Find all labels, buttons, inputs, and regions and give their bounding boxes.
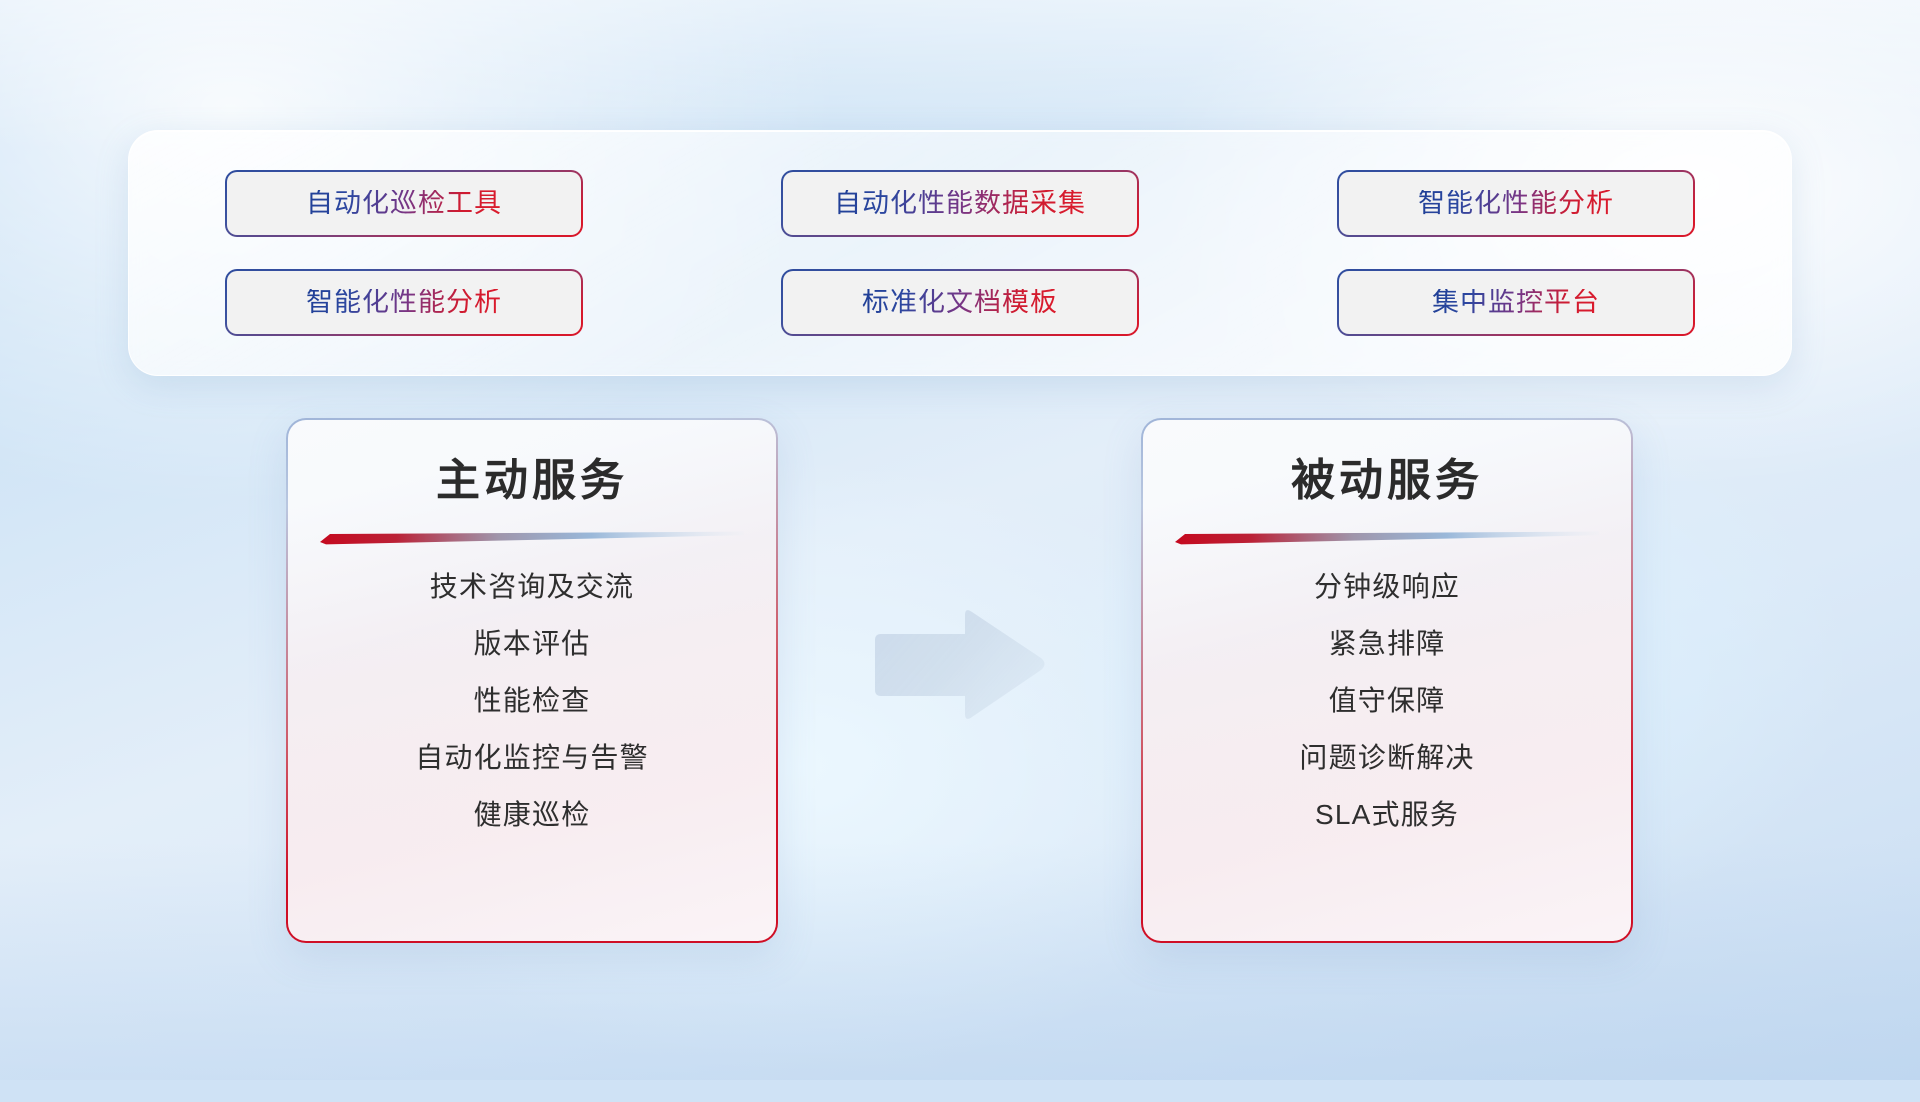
capability-tag-label: 标准化文档模板	[862, 289, 1058, 316]
tag-row: 智能化性能分析 标准化文档模板 集中监控平台	[225, 269, 1695, 336]
service-item-list: 分钟级响应 紧急排障 值守保障 问题诊断解决 SLA式服务	[1177, 573, 1597, 829]
capability-tag[interactable]: 自动化性能数据采集	[781, 170, 1139, 237]
service-list-item: 技术咨询及交流	[430, 573, 634, 601]
service-item-list: 技术咨询及交流 版本评估 性能检查 自动化监控与告警 健康巡检	[322, 573, 742, 829]
service-list-item: 分钟级响应	[1314, 573, 1460, 601]
capability-tag-panel: 自动化巡检工具 自动化性能数据采集 智能化性能分析 智能化性能分析 标准化文档模…	[128, 130, 1792, 376]
service-list-item: 自动化监控与告警	[415, 744, 649, 772]
service-list-item: 值守保障	[1329, 687, 1446, 715]
card-title-divider	[1175, 531, 1599, 545]
service-card-title: 主动服务	[436, 456, 628, 507]
service-list-item: 性能检查	[474, 687, 591, 715]
card-title-divider	[320, 531, 744, 545]
capability-tag-label: 智能化性能分析	[306, 289, 502, 316]
service-list-item: SLA式服务	[1315, 801, 1459, 829]
capability-tag-label: 自动化巡检工具	[306, 190, 502, 217]
service-list-item: 紧急排障	[1329, 630, 1446, 658]
service-list-item: 版本评估	[474, 630, 591, 658]
capability-tag[interactable]: 智能化性能分析	[1337, 170, 1695, 237]
capability-tag-label: 自动化性能数据采集	[834, 190, 1086, 217]
service-card-reactive: 被动服务 分钟级响应 紧急排障 值守保障	[1141, 418, 1633, 943]
capability-tag[interactable]: 集中监控平台	[1337, 269, 1695, 336]
right-arrow-icon	[869, 606, 1051, 726]
tag-row: 自动化巡检工具 自动化性能数据采集 智能化性能分析	[225, 170, 1695, 237]
service-list-item: 健康巡检	[474, 801, 591, 829]
capability-tag-label: 集中监控平台	[1432, 289, 1600, 316]
service-card-proactive: 主动服务 技术咨询及交流 版本评估 性能检查	[286, 418, 778, 943]
capability-tag[interactable]: 标准化文档模板	[781, 269, 1139, 336]
service-card-title: 被动服务	[1291, 456, 1483, 507]
service-list-item: 问题诊断解决	[1299, 744, 1474, 772]
capability-tag[interactable]: 自动化巡检工具	[225, 170, 583, 237]
capability-tag-label: 智能化性能分析	[1418, 190, 1614, 217]
service-comparison-stage: 主动服务 技术咨询及交流 版本评估 性能检查	[0, 418, 1920, 978]
capability-tag[interactable]: 智能化性能分析	[225, 269, 583, 336]
